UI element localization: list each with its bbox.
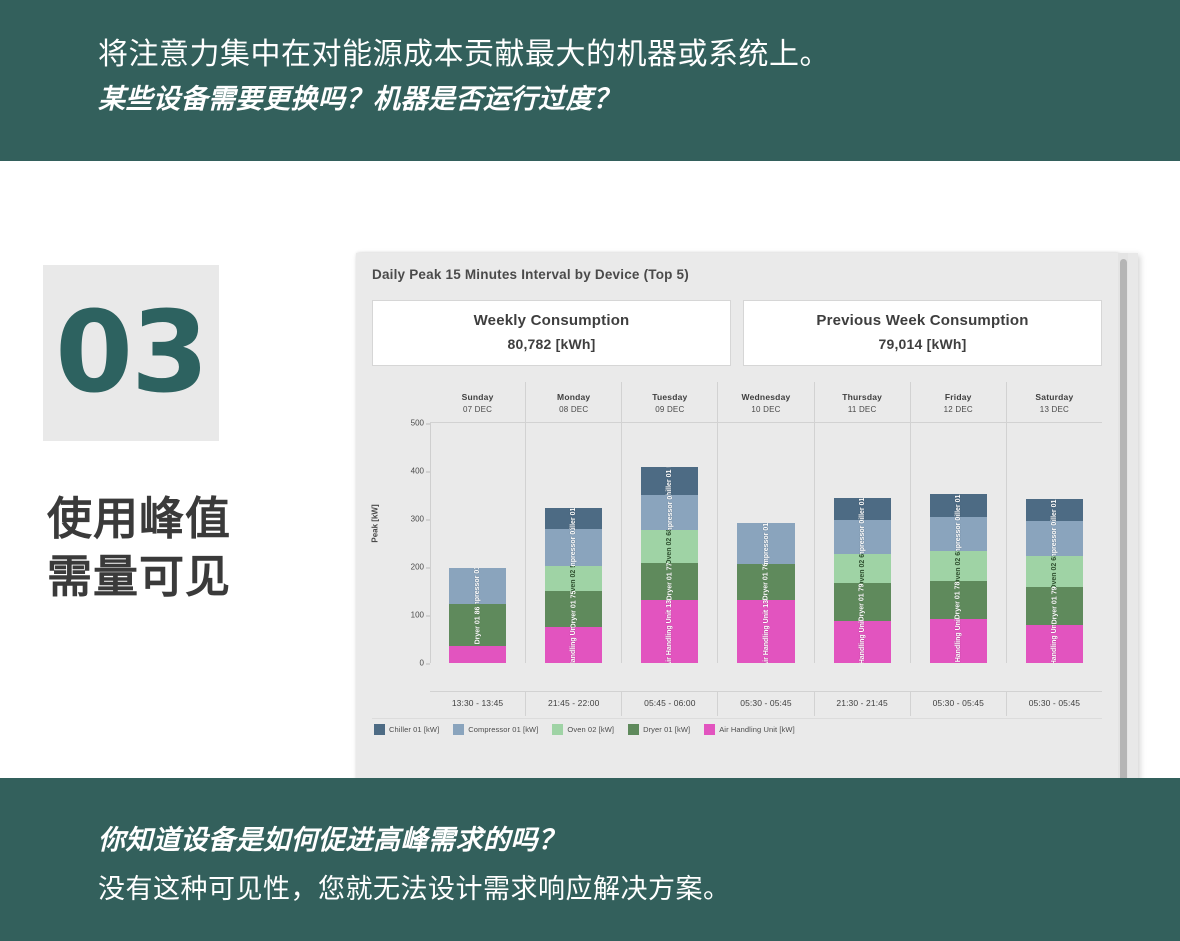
y-axis-tick: 500 <box>378 419 424 428</box>
bar-segment-label: Dryer 01 78 <box>955 581 962 618</box>
bottom-banner-line-2: 没有这种可见性，您就无法设计需求响应解决方案。 <box>98 868 1180 910</box>
top-banner-line-2: 某些设备需要更换吗？机器是否运行过度？ <box>98 79 1180 119</box>
y-axis-tick: 400 <box>378 467 424 476</box>
day-date: 10 DEC <box>718 405 813 414</box>
bar-segment[interactable]: Chiller 01 57 <box>641 467 698 494</box>
bar-column[interactable]: Compressor 01 75Dryer 01 86 <box>430 423 525 663</box>
kpi-row: Weekly Consumption 80,782 [kWh] Previous… <box>372 300 1102 366</box>
bar-segment[interactable]: Chiller 01 45 <box>1026 499 1083 521</box>
y-axis-tick: 100 <box>378 611 424 620</box>
bar-segment-label: Air Handling Unit 74 <box>570 627 577 663</box>
y-axis-tick: 200 <box>378 563 424 572</box>
stacked-bar[interactable]: Chiller 01 45Compressor 01 74Oven 02 63D… <box>1026 499 1083 663</box>
bar-segment-label: Chiller 01 43 <box>570 508 577 529</box>
stacked-bar[interactable]: Chiller 01 48Compressor 01 72Oven 02 63D… <box>930 494 987 663</box>
bar-segment-label: Oven 02 63 <box>1051 556 1058 586</box>
bar-segment-label: Dryer 01 86 <box>474 606 481 644</box>
legend-item[interactable]: Air Handling Unit [kW] <box>704 724 795 735</box>
bar-segment[interactable]: Air Handling Unit 87 <box>834 621 891 663</box>
bar-segment-label: Dryer 01 77 <box>666 563 673 600</box>
bar-segment[interactable]: Dryer 01 77 <box>641 563 698 600</box>
bar-column[interactable]: Chiller 01 45Compressor 01 74Oven 02 63D… <box>1006 423 1102 663</box>
legend-label: Compressor 01 [kW] <box>468 725 538 734</box>
bar-segment[interactable]: Dryer 01 76 <box>737 564 794 600</box>
bar-segment-label: Dryer 01 79 <box>859 583 866 621</box>
day-name: Friday <box>911 392 1006 402</box>
bar-segment[interactable]: Oven 02 63 <box>930 551 987 581</box>
bar-segment[interactable]: Oven 02 62 <box>834 554 891 584</box>
kpi-previous-week-consumption[interactable]: Previous Week Consumption 79,014 [kWh] <box>743 300 1102 366</box>
day-name: Monday <box>526 392 621 402</box>
bar-segment[interactable]: Compressor 01 71 <box>834 520 891 554</box>
peak-interval-label: 05:30 - 05:45 <box>910 692 1006 716</box>
bar-segment-label: Air Handling Unit 131 <box>762 600 769 663</box>
bar-segment[interactable]: Air Handling Unit 131 <box>737 600 794 663</box>
day-date: 13 DEC <box>1007 405 1102 414</box>
bar-segment[interactable]: Dryer 01 79 <box>1026 587 1083 625</box>
bar-segment-label: Compressor 01 75 <box>474 568 481 604</box>
day-header-cell: Thursday11 DEC <box>814 382 910 422</box>
bar-segment-label: Dryer 01 76 <box>762 564 769 600</box>
bar-segment-label: Oven 02 68 <box>666 530 673 563</box>
legend-swatch <box>453 724 464 735</box>
stacked-bar[interactable]: Chiller 01 43Compressor 01 77Oven 02 53D… <box>545 508 602 663</box>
bar-segment-label: Dryer 01 75 <box>570 591 577 627</box>
legend-swatch <box>628 724 639 735</box>
bar-segment-label: Compressor 01 74 <box>666 495 673 531</box>
bar-group: Compressor 01 75Dryer 01 86Chiller 01 43… <box>430 423 1102 663</box>
day-date: 09 DEC <box>622 405 717 414</box>
bar-column[interactable]: Chiller 01 43Compressor 01 77Oven 02 53D… <box>525 423 621 663</box>
stacked-bar[interactable]: Chiller 01 44Compressor 01 71Oven 02 62D… <box>834 498 891 663</box>
bar-segment[interactable]: Compressor 01 74 <box>641 495 698 531</box>
bar-segment[interactable] <box>449 646 506 663</box>
bar-segment-label: Air Handling Unit 92 <box>955 619 962 663</box>
legend-label: Dryer 01 [kW] <box>643 725 690 734</box>
peak-interval-label: 13:30 - 13:45 <box>430 692 525 716</box>
bottom-banner-line-1: 你知道设备是如何促进高峰需求的吗？ <box>98 820 1180 860</box>
bar-segment[interactable]: Oven 02 68 <box>641 530 698 563</box>
kpi-value: 79,014 [kWh] <box>744 336 1101 352</box>
bar-segment-label: Chiller 01 57 <box>666 467 673 494</box>
bar-segment[interactable]: Air Handling Unit 132 <box>641 600 698 663</box>
bar-segment-label: Compressor 01 74 <box>1051 521 1058 557</box>
stacked-bar[interactable]: Chiller 01 57Compressor 01 74Oven 02 68D… <box>641 467 698 663</box>
top-banner-line-1: 将注意力集中在对能源成本贡献最大的机器或系统上。 <box>98 34 1180 76</box>
day-header-cell: Wednesday10 DEC <box>717 382 813 422</box>
day-header-cell: Tuesday09 DEC <box>621 382 717 422</box>
bar-segment-label: Oven 02 62 <box>859 554 866 584</box>
peak-interval-label: 21:45 - 22:00 <box>525 692 621 716</box>
chart-legend: Chiller 01 [kW]Compressor 01 [kW]Oven 02… <box>372 718 1102 741</box>
kpi-value: 80,782 [kWh] <box>373 336 730 352</box>
kpi-label: Previous Week Consumption <box>744 312 1101 329</box>
bar-segment[interactable]: Dryer 01 79 <box>834 583 891 621</box>
legend-label: Chiller 01 [kW] <box>389 725 439 734</box>
y-axis-tick: 0 <box>378 659 424 668</box>
bar-segment-label: Compressor 01 84 <box>762 523 769 563</box>
legend-swatch <box>552 724 563 735</box>
y-axis-tick: 300 <box>378 515 424 524</box>
legend-item[interactable]: Oven 02 [kW] <box>552 724 614 735</box>
peak-interval-row: 13:30 - 13:4521:45 - 22:0005:45 - 06:000… <box>430 691 1102 716</box>
kpi-label: Weekly Consumption <box>373 312 730 329</box>
legend-swatch <box>704 724 715 735</box>
day-header-cell: Saturday13 DEC <box>1006 382 1102 422</box>
day-date: 08 DEC <box>526 405 621 414</box>
bar-segment[interactable]: Compressor 01 84 <box>737 523 794 563</box>
bar-segment[interactable]: Compressor 01 72 <box>930 517 987 552</box>
top-banner: 将注意力集中在对能源成本贡献最大的机器或系统上。 某些设备需要更换吗？机器是否运… <box>0 0 1180 161</box>
day-header-cell: Sunday07 DEC <box>430 382 525 422</box>
bar-segment[interactable]: Air Handling Unit 80 <box>1026 625 1083 663</box>
day-name: Thursday <box>815 392 910 402</box>
day-date: 12 DEC <box>911 405 1006 414</box>
bar-segment-label: Chiller 01 44 <box>859 498 866 519</box>
chart-area: Sunday07 DECMonday08 DECTuesday09 DECWed… <box>372 382 1102 716</box>
legend-swatch <box>374 724 385 735</box>
y-axis: Peak [kW] 0100200300400500 <box>372 423 430 663</box>
day-header-row: Sunday07 DECMonday08 DECTuesday09 DECWed… <box>430 382 1102 423</box>
bar-segment-label: Compressor 01 72 <box>955 517 962 552</box>
bar-segment-label: Chiller 01 45 <box>1051 499 1058 521</box>
day-header-cell: Monday08 DEC <box>525 382 621 422</box>
bar-segment[interactable]: Dryer 01 75 <box>545 591 602 627</box>
bar-segment-label: Chiller 01 48 <box>955 494 962 517</box>
peak-interval-label: 05:30 - 05:45 <box>717 692 813 716</box>
y-axis-title: Peak [kW] <box>371 504 380 542</box>
bar-segment[interactable]: Chiller 01 43 <box>545 508 602 529</box>
peak-interval-label: 21:30 - 21:45 <box>814 692 910 716</box>
legend-item[interactable]: Compressor 01 [kW] <box>453 724 538 735</box>
legend-label: Oven 02 [kW] <box>567 725 614 734</box>
bar-segment-label: Air Handling Unit 132 <box>666 600 673 663</box>
stacked-bar[interactable]: Compressor 01 84Dryer 01 76Air Handling … <box>737 523 794 663</box>
day-name: Wednesday <box>718 392 813 402</box>
bar-segment-label: Compressor 01 77 <box>570 529 577 566</box>
bar-segment-label: Oven 02 53 <box>570 566 577 591</box>
bar-segment[interactable]: Oven 02 63 <box>1026 556 1083 586</box>
bar-segment-label: Dryer 01 79 <box>1051 587 1058 625</box>
step-title-line-1: 使用峰值 <box>47 490 347 548</box>
peak-interval-label: 05:30 - 05:45 <box>1006 692 1102 716</box>
bar-column[interactable]: Compressor 01 84Dryer 01 76Air Handling … <box>717 423 813 663</box>
step-number-box: 03 <box>43 265 219 441</box>
day-name: Tuesday <box>622 392 717 402</box>
bar-segment[interactable]: Chiller 01 44 <box>834 498 891 519</box>
step-number: 03 <box>55 297 207 409</box>
bar-column[interactable]: Chiller 01 44Compressor 01 71Oven 02 62D… <box>814 423 910 663</box>
step-title: 使用峰值 需量可见 <box>47 490 347 606</box>
legend-label: Air Handling Unit [kW] <box>719 725 795 734</box>
bar-segment[interactable]: Dryer 01 86 <box>449 604 506 645</box>
bar-segment-label: Air Handling Unit 87 <box>859 621 866 663</box>
bar-column[interactable]: Chiller 01 57Compressor 01 74Oven 02 68D… <box>621 423 717 663</box>
legend-item[interactable]: Dryer 01 [kW] <box>628 724 690 735</box>
chart-title: Daily Peak 15 Minutes Interval by Device… <box>372 267 1106 282</box>
step-title-line-2: 需量可见 <box>47 548 347 606</box>
day-name: Saturday <box>1007 392 1102 402</box>
day-header-cell: Friday12 DEC <box>910 382 1006 422</box>
bottom-banner: 你知道设备是如何促进高峰需求的吗？ 没有这种可见性，您就无法设计需求响应解决方案… <box>0 778 1180 941</box>
bar-segment[interactable]: Oven 02 53 <box>545 566 602 591</box>
bar-segment[interactable]: Compressor 01 77 <box>545 529 602 566</box>
bar-segment[interactable]: Dryer 01 78 <box>930 581 987 618</box>
bar-segment[interactable]: Air Handling Unit 92 <box>930 619 987 663</box>
legend-item[interactable]: Chiller 01 [kW] <box>374 724 439 735</box>
day-name: Sunday <box>430 392 525 402</box>
stacked-bar[interactable]: Compressor 01 75Dryer 01 86 <box>449 568 506 663</box>
bar-segment-label: Air Handling Unit 80 <box>1051 625 1058 663</box>
bar-column[interactable]: Chiller 01 48Compressor 01 72Oven 02 63D… <box>910 423 1006 663</box>
bar-segment[interactable]: Air Handling Unit 74 <box>545 627 602 663</box>
bar-segment[interactable]: Chiller 01 48 <box>930 494 987 517</box>
bar-segment-label: Compressor 01 71 <box>859 520 866 554</box>
kpi-weekly-consumption[interactable]: Weekly Consumption 80,782 [kWh] <box>372 300 731 366</box>
plot-area: Peak [kW] 0100200300400500 Compressor 01… <box>372 423 1102 691</box>
day-date: 11 DEC <box>815 405 910 414</box>
content-area: 03 使用峰值 需量可见 Daily Peak 15 Minutes Inter… <box>0 161 1180 778</box>
bar-segment-label: Oven 02 63 <box>955 551 962 581</box>
bar-segment[interactable]: Compressor 01 74 <box>1026 521 1083 557</box>
day-date: 07 DEC <box>430 405 525 414</box>
bar-segment[interactable]: Compressor 01 75 <box>449 568 506 604</box>
peak-interval-label: 05:45 - 06:00 <box>621 692 717 716</box>
